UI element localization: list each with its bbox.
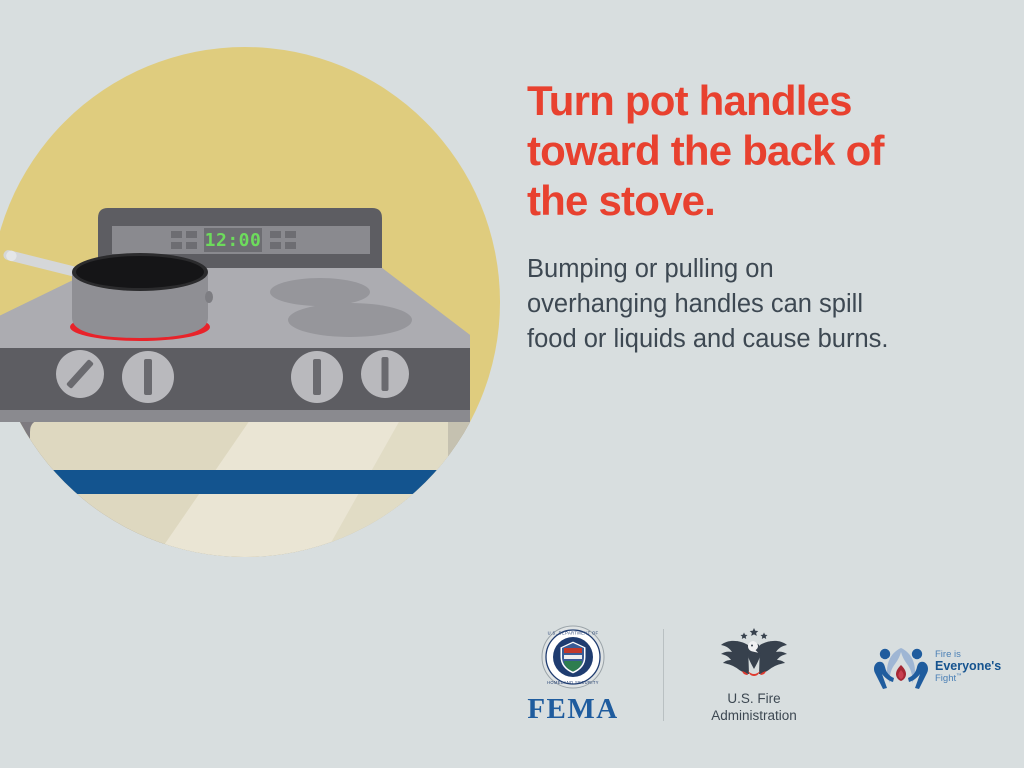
logo-bar: U.S. DEPARTMENT OF HOMELAND SECURITY FEM… — [505, 625, 1015, 735]
fief-line-2: Everyone's — [935, 660, 1001, 674]
burner-rear-right — [270, 278, 370, 306]
fire-is-everyones-fight-logo: Fire is Everyone's Fight™ — [872, 643, 1001, 691]
svg-text:U.S. DEPARTMENT OF: U.S. DEPARTMENT OF — [548, 631, 599, 636]
dhs-seal-icon: U.S. DEPARTMENT OF HOMELAND SECURITY — [541, 625, 605, 689]
headline-line-1: Turn pot handles — [527, 77, 852, 124]
usfa-eagle-icon — [718, 625, 790, 685]
knob-1 — [56, 350, 104, 398]
fema-wordmark: FEMA — [527, 693, 618, 726]
logo-divider — [663, 629, 664, 721]
usfa-line-2: Administration — [711, 708, 797, 723]
subhead-line-3: food or liquids and cause burns. — [527, 325, 888, 353]
stove-illustration: 12:00 — [0, 0, 512, 600]
pot-side-lug — [205, 291, 213, 303]
headline-line-2: toward the back of — [527, 127, 884, 174]
usfa-wordmark: U.S. Fire Administration — [711, 690, 797, 725]
usfa-logo: U.S. Fire Administration — [694, 625, 814, 725]
clock-display: 12:00 — [205, 230, 262, 251]
oven-door-band — [30, 470, 450, 494]
usfa-line-1: U.S. Fire — [727, 691, 780, 706]
burner-front-right — [288, 303, 412, 337]
knob-panel-base — [0, 410, 470, 422]
fief-line-3: Fight™ — [935, 674, 1001, 684]
fema-logo: U.S. DEPARTMENT OF HOMELAND SECURITY FEM… — [505, 625, 633, 726]
svg-text:HOMELAND SECURITY: HOMELAND SECURITY — [547, 680, 599, 685]
pot-interior — [76, 256, 204, 288]
oven-group — [0, 420, 470, 580]
fief-wordmark: Fire is Everyone's Fight™ — [935, 650, 1001, 684]
subhead-line-1: Bumping or pulling on — [527, 255, 774, 283]
page-title: Turn pot handles toward the back of the … — [527, 76, 987, 226]
message-block: Turn pot handles toward the back of the … — [527, 76, 987, 357]
subtitle-text: Bumping or pulling on overhanging handle… — [527, 252, 987, 358]
headline-line-3: the stove. — [527, 177, 715, 224]
subhead-line-2: overhanging handles can spill — [527, 290, 863, 318]
fief-trademark: ™ — [956, 673, 962, 679]
knob-4 — [361, 350, 409, 398]
fief-figures-icon — [872, 643, 930, 691]
knob-3 — [291, 351, 343, 403]
knob-2 — [122, 351, 174, 403]
fief-line-3-text: Fight — [935, 673, 956, 684]
